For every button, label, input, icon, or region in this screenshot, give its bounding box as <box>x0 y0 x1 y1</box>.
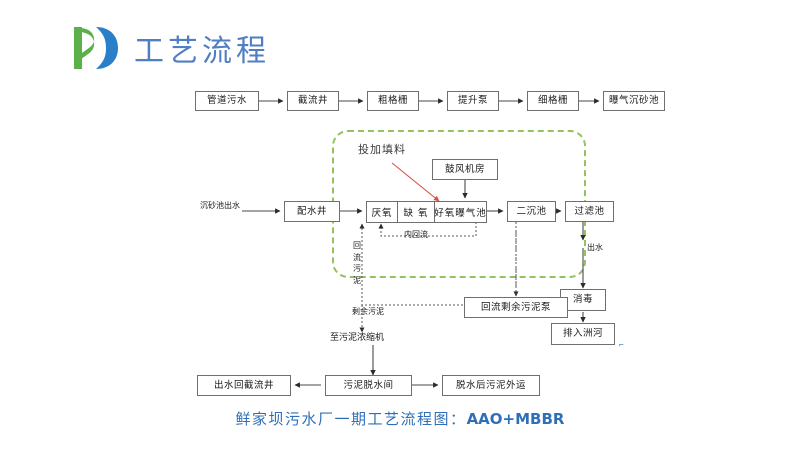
node-fine-screen[interactable]: 细格栅 <box>527 91 579 111</box>
reactor-cell-aerobic[interactable]: 好氧曝气池 <box>435 202 486 222</box>
label-excess-sludge: 剩余污泥 <box>352 308 384 316</box>
node-discharge-river[interactable]: 排入洲河 <box>551 323 615 345</box>
node-dewatered-sludge-transport[interactable]: 脱水后污泥外运 <box>442 375 540 396</box>
node-effluent-back-to-intercept-well[interactable]: 出水回截流井 <box>197 375 291 396</box>
decorative-mark: ⌐ <box>619 340 624 349</box>
label-effluent: 出水 <box>587 244 603 252</box>
label-to-sludge-thickener: 至污泥浓缩机 <box>330 334 384 343</box>
diagram-caption: 鲜家坝污水厂一期工艺流程图：AAO+MBBR <box>0 408 800 429</box>
caption-suffix: AAO+MBBR <box>467 410 565 428</box>
label-internal-recycle: 内回流 <box>404 231 428 239</box>
node-lift-pump[interactable]: 提升泵 <box>447 91 499 111</box>
node-pipe-sewage[interactable]: 管道污水 <box>195 91 259 111</box>
node-sludge-dewatering-room[interactable]: 污泥脱水间 <box>325 375 412 396</box>
node-return-excess-sludge-pump[interactable]: 回流剩余污泥泵 <box>464 297 568 318</box>
label-grit-effluent: 沉砂池出水 <box>200 202 240 210</box>
node-blower-room[interactable]: 鼓风机房 <box>432 159 498 180</box>
reactor-cell-anoxic[interactable]: 缺 氧 <box>398 202 435 222</box>
caption-text: 鲜家坝污水厂一期工艺流程图： <box>236 410 467 428</box>
node-secondary-clarifier[interactable]: 二沉池 <box>507 201 556 222</box>
reactor-cell-anaerobic[interactable]: 厌氧 <box>367 202 398 222</box>
node-aerated-grit-chamber[interactable]: 曝气沉砂池 <box>603 91 665 111</box>
node-aao-reactor[interactable]: 厌氧 缺 氧 好氧曝气池 <box>366 201 487 223</box>
node-coarse-screen[interactable]: 粗格栅 <box>367 91 419 111</box>
label-media-dosing: 投加填料 <box>358 144 406 156</box>
node-intercept-well[interactable]: 截流井 <box>287 91 339 111</box>
label-return-sludge: 回流污泥 <box>352 240 362 286</box>
node-distribution-well[interactable]: 配水井 <box>284 201 340 222</box>
process-flow-diagram: 管道污水 截流井 粗格栅 提升泵 细格栅 曝气沉砂池 沉砂池出水 配水井 厌氧 … <box>0 0 800 450</box>
node-filter-tank[interactable]: 过滤池 <box>565 201 614 222</box>
